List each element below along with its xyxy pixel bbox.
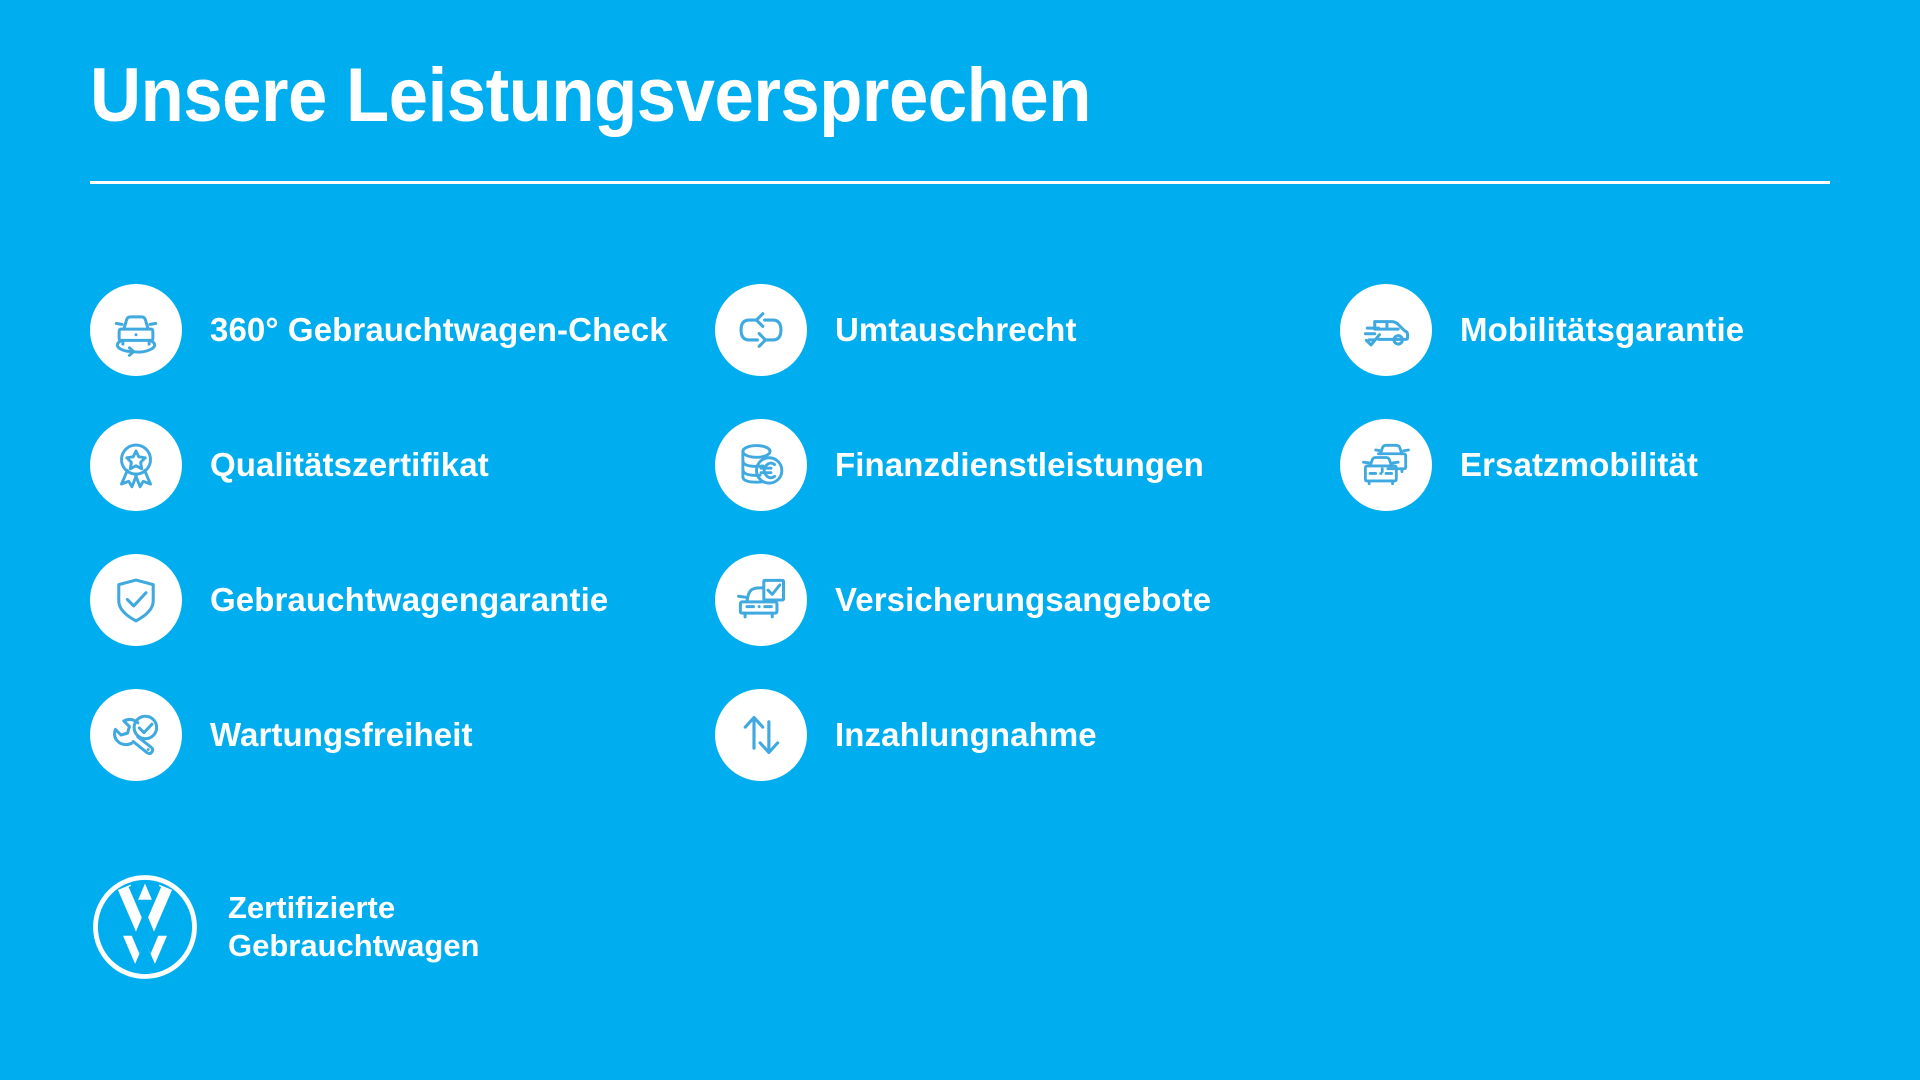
- promise-item-maintenance-free[interactable]: Wartungsfreiheit: [90, 667, 715, 802]
- badge-circle: [1340, 284, 1432, 376]
- promise-label: 360° Gebrauchtwagen-Check: [210, 311, 668, 349]
- brand-text-line-1: Zertifizierte: [228, 889, 480, 927]
- promise-label: Finanzdienstleistungen: [835, 446, 1204, 484]
- badge-circle: [715, 554, 807, 646]
- promise-item-financial-services[interactable]: Finanzdienstleistungen: [715, 397, 1340, 532]
- promise-label: Wartungsfreiheit: [210, 716, 473, 754]
- badge-circle: [90, 554, 182, 646]
- title-divider: [90, 181, 1830, 184]
- brand-text-line-2: Gebrauchtwagen: [228, 927, 480, 965]
- promise-item-exchange-right[interactable]: Umtauschrecht: [715, 262, 1340, 397]
- brand-lockup: Zertifizierte Gebrauchtwagen: [90, 872, 480, 982]
- shield-check-icon: [107, 571, 165, 629]
- up-down-arrows-icon: [733, 707, 789, 763]
- promise-item-replacement-mobility[interactable]: Ersatzmobilität: [1340, 397, 1850, 532]
- promise-label: Umtauschrecht: [835, 311, 1077, 349]
- promise-item-insurance-offers[interactable]: Versicherungsangebote: [715, 532, 1340, 667]
- badge-circle: [90, 284, 182, 376]
- wrench-check-icon: [106, 705, 166, 765]
- euro-coins-icon: [732, 436, 790, 494]
- promises-grid: 360° Gebrauchtwagen-Check Qualitätszerti…: [90, 262, 1850, 802]
- promises-column-3: Mobilitätsgarantie: [1340, 262, 1850, 802]
- quality-rosette-icon: [107, 436, 165, 494]
- promise-label: Mobilitätsgarantie: [1460, 311, 1744, 349]
- badge-circle: [90, 689, 182, 781]
- car-speed-check-icon: [1356, 300, 1416, 360]
- two-cars-icon: [1356, 435, 1416, 495]
- promise-item-used-car-warranty[interactable]: Gebrauchtwagengarantie: [90, 532, 715, 667]
- badge-circle: [715, 419, 807, 511]
- page-title: Unsere Leistungsversprechen: [90, 58, 1708, 134]
- promise-label: Ersatzmobilität: [1460, 446, 1698, 484]
- promise-item-trade-in[interactable]: Inzahlungnahme: [715, 667, 1340, 802]
- badge-circle: [1340, 419, 1432, 511]
- promise-item-quality-certificate[interactable]: Qualitätszertifikat: [90, 397, 715, 532]
- car-360-check-icon: [106, 300, 166, 360]
- promises-column-2: Umtauschrecht: [715, 262, 1340, 802]
- badge-circle: [715, 689, 807, 781]
- exchange-arrows-icon: [732, 301, 790, 359]
- promise-label: Versicherungsangebote: [835, 581, 1211, 619]
- promise-item-mobility-guarantee[interactable]: Mobilitätsgarantie: [1340, 262, 1850, 397]
- badge-circle: [90, 419, 182, 511]
- volkswagen-logo: [90, 872, 200, 982]
- header: Unsere Leistungsversprechen: [90, 58, 1830, 134]
- promise-label: Inzahlungnahme: [835, 716, 1097, 754]
- promise-label: Gebrauchtwagengarantie: [210, 581, 608, 619]
- badge-circle: [715, 284, 807, 376]
- promise-item-360-check[interactable]: 360° Gebrauchtwagen-Check: [90, 262, 715, 397]
- promises-column-1: 360° Gebrauchtwagen-Check Qualitätszerti…: [90, 262, 715, 802]
- brand-text: Zertifizierte Gebrauchtwagen: [228, 889, 480, 966]
- slide-root: Unsere Leistungsversprechen: [0, 0, 1920, 1080]
- car-checkbox-icon: [731, 570, 791, 630]
- promise-label: Qualitätszertifikat: [210, 446, 489, 484]
